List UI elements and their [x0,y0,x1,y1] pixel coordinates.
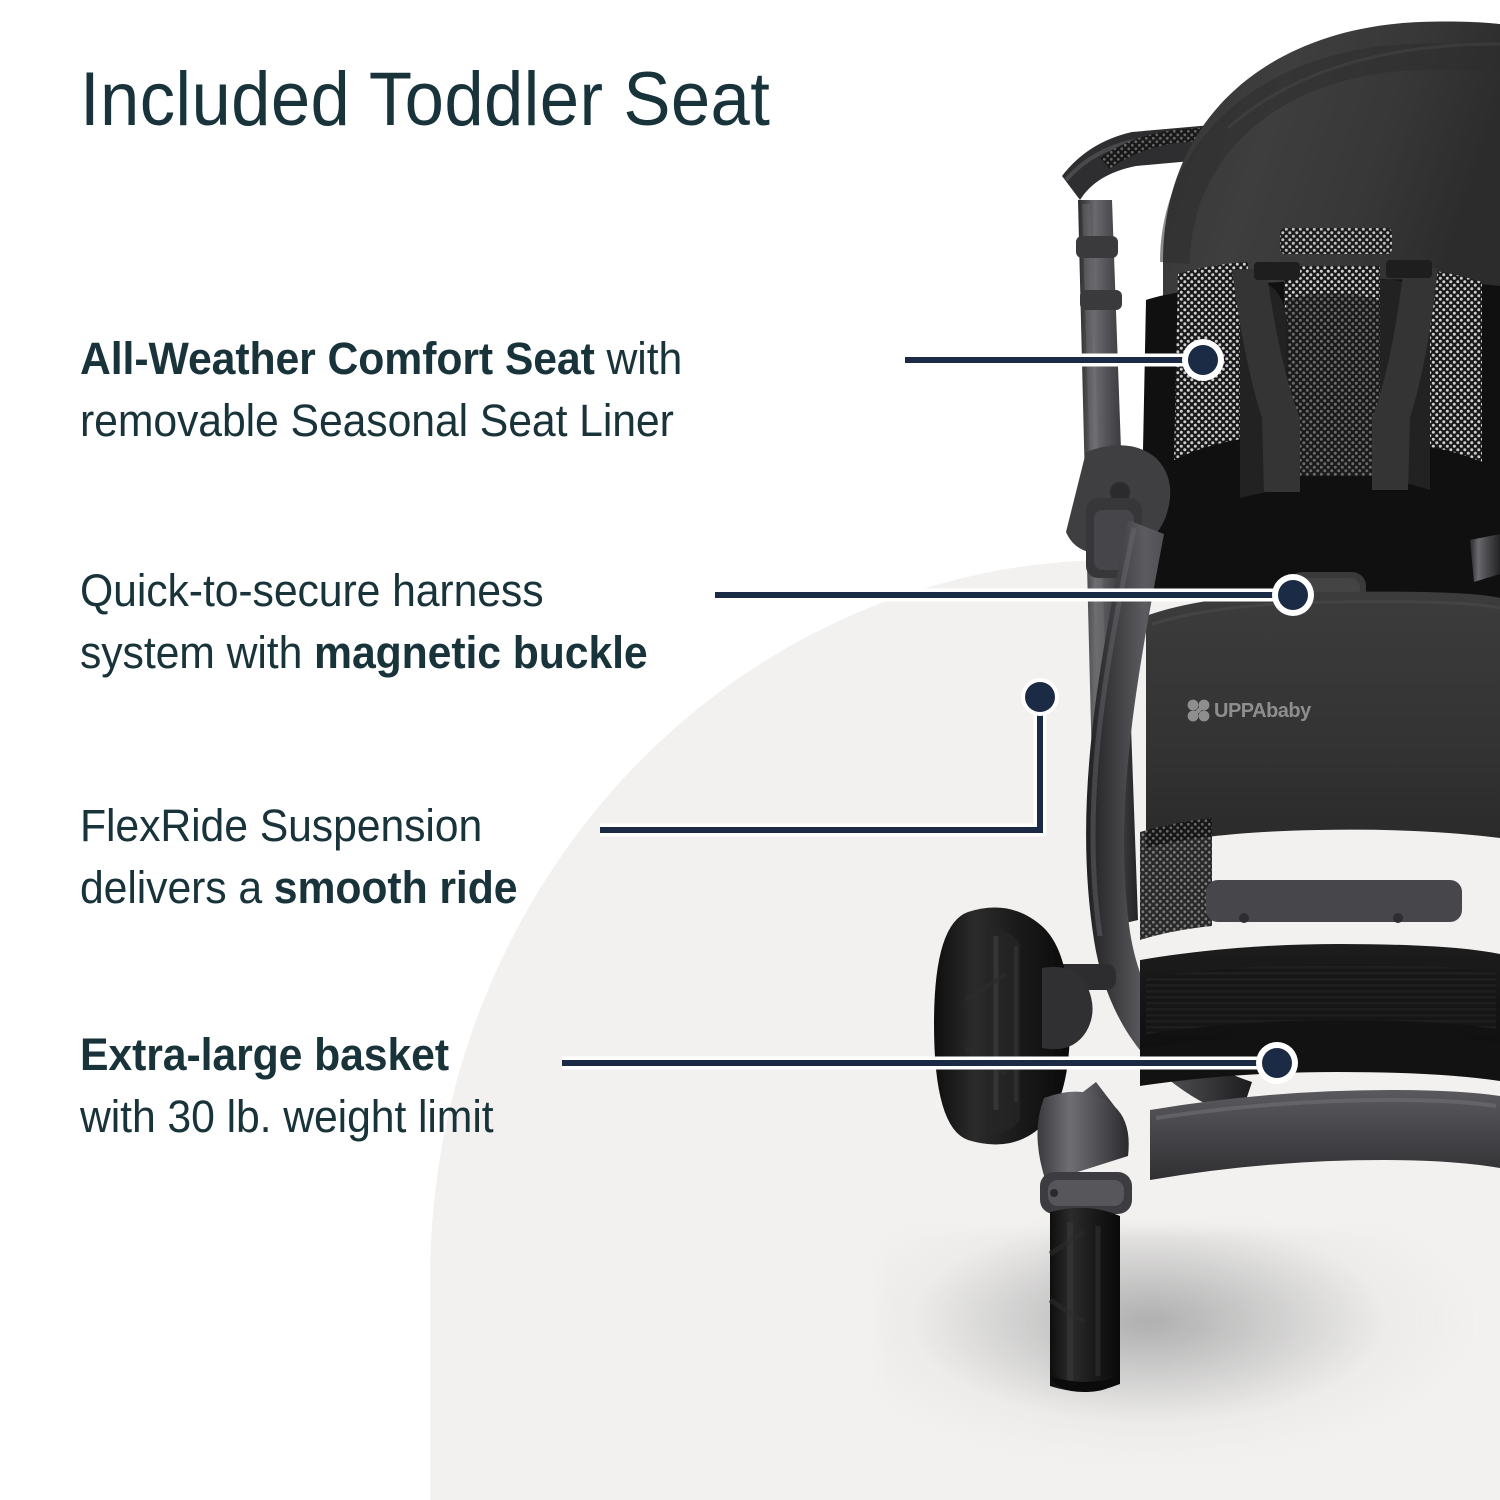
brand-logo-text: UPPAbaby [1214,700,1312,722]
feature-all-weather-comfort-seat: All-Weather Comfort Seat with removable … [80,328,935,452]
stroller-product-image: UPPAbaby [0,0,1500,1500]
feature-magnetic-buckle-harness: Quick-to-secure harness system with magn… [80,560,935,684]
feature-line-2: removable Seasonal Seat Liner [80,390,935,452]
seat-cushion: UPPAbaby [1146,592,1500,848]
seat-top-bar [1206,880,1462,923]
right-frame-tube [1470,534,1500,582]
feature-line-1: Quick-to-secure harness [80,560,935,622]
feature-line-2: system with magnetic buckle [80,622,935,684]
bumper-bar [1150,1090,1500,1180]
feature-regular-text: removable Seasonal Seat Liner [80,395,674,446]
basket-side-mesh [1140,818,1212,940]
feature-bold-text: Extra-large basket [80,1029,449,1080]
feature-regular-text: delivers a [80,862,274,913]
feature-line-2: with 30 lb. weight limit [80,1086,935,1148]
feature-regular-text: Quick-to-secure harness [80,565,543,616]
feature-extra-large-basket: Extra-large basket with 30 lb. weight li… [80,1024,935,1148]
infographic-page: UPPAbaby [0,0,1500,1500]
feature-regular-text: with 30 lb. weight limit [80,1091,494,1142]
feature-line-1: FlexRide Suspension [80,795,935,857]
feature-line-2: delivers a smooth ride [80,857,935,919]
front-caster-wheel [1037,1092,1132,1392]
feature-regular-text: FlexRide Suspension [80,800,482,851]
feature-flexride-suspension: FlexRide Suspension delivers a smooth ri… [80,795,935,919]
feature-bold-text: magnetic buckle [314,627,648,678]
seat-back [1140,228,1500,646]
feature-bold-text: smooth ride [274,862,518,913]
under-seat-basket [1140,944,1500,1086]
feature-regular-text: with [595,333,682,384]
feature-regular-text: system with [80,627,314,678]
feature-line-1: All-Weather Comfort Seat with [80,328,935,390]
page-title: Included Toddler Seat [80,62,770,138]
feature-line-1: Extra-large basket [80,1024,935,1086]
feature-bold-text: All-Weather Comfort Seat [80,333,595,384]
